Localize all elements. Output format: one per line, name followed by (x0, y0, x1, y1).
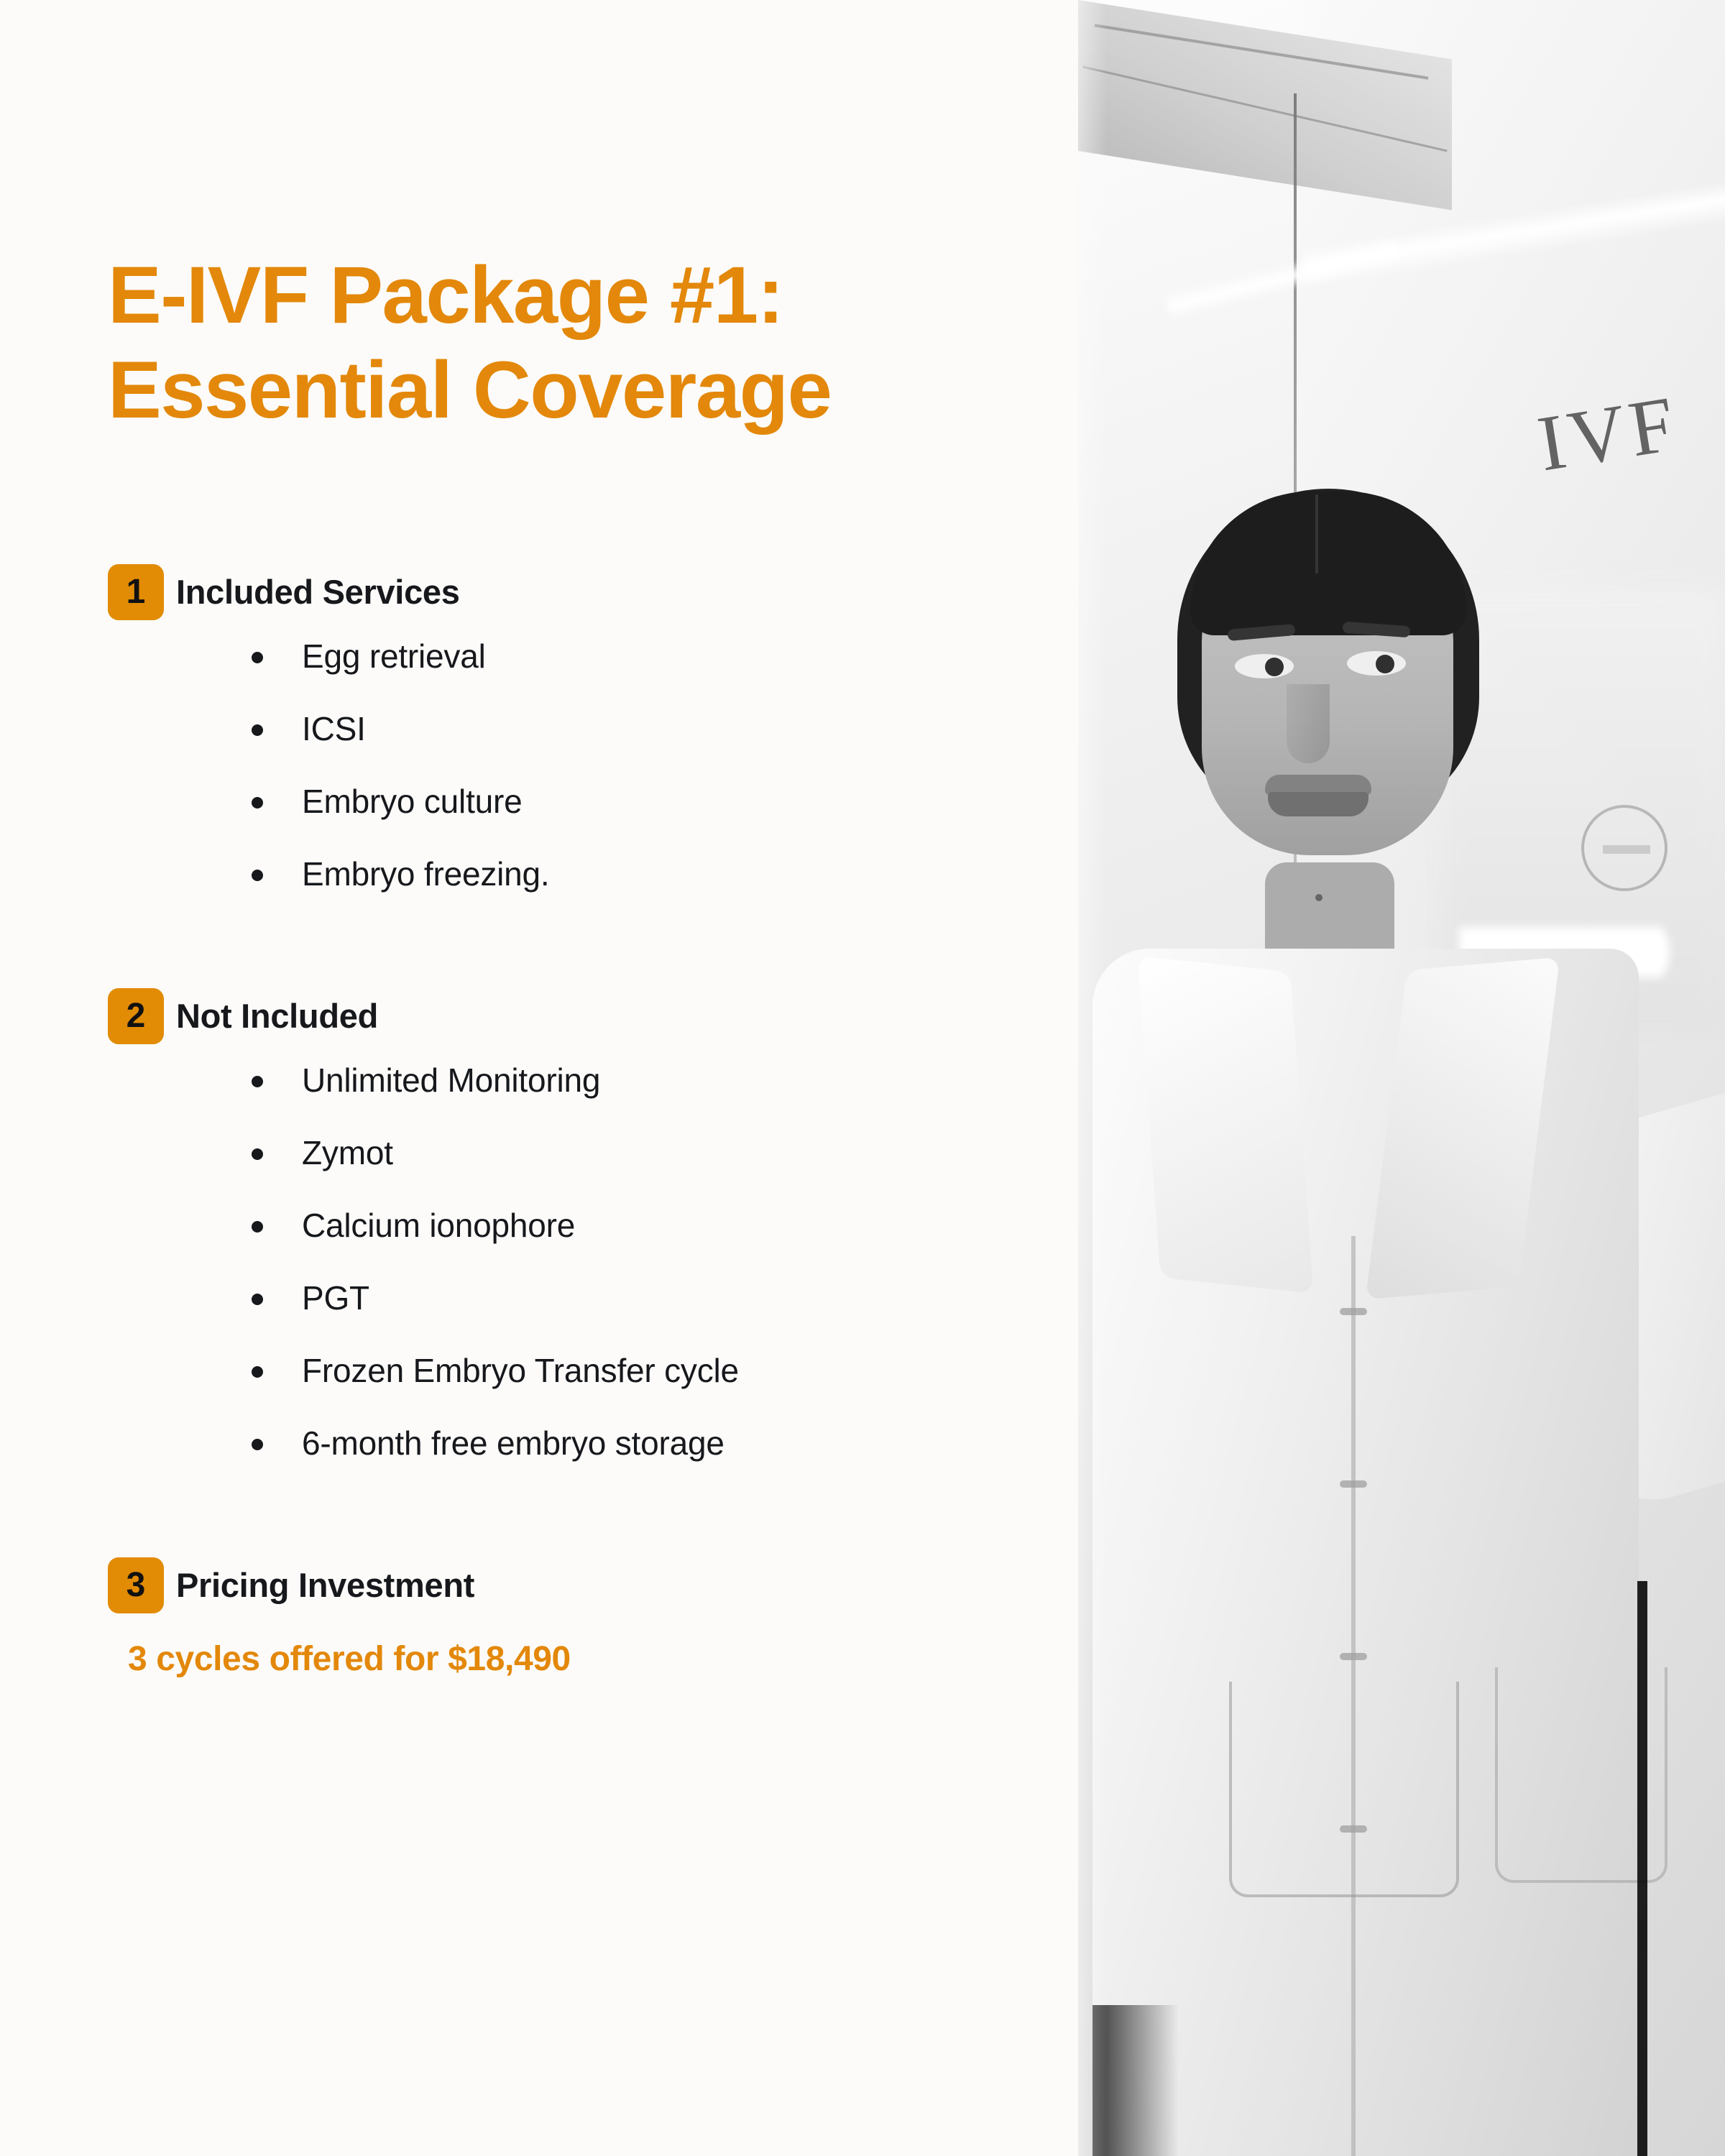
section-included-services: 1 Included Services Egg retrieval ICSI E… (108, 564, 1035, 895)
ivf-package-poster: E-IVF Package #1: Essential Coverage 1 I… (0, 0, 1725, 2156)
page-title-line-1: E-IVF Package #1: (108, 250, 783, 340)
list-item: Embryo culture (252, 781, 1035, 822)
list-item-label: PGT (302, 1279, 369, 1317)
list-item-label: Frozen Embryo Transfer cycle (302, 1352, 739, 1389)
list-item-label: 6-month free embryo storage (302, 1424, 724, 1462)
list-item-label: Embryo culture (302, 783, 523, 820)
section-number-badge: 3 (108, 1557, 164, 1613)
bullet-dot-icon (252, 797, 263, 808)
bullet-dot-icon (252, 1076, 263, 1087)
list-item: Unlimited Monitoring (252, 1060, 1035, 1101)
doctor-mole (1315, 894, 1322, 901)
list-item-label: Calcium ionophore (302, 1207, 575, 1244)
sections-list: 1 Included Services Egg retrieval ICSI E… (108, 564, 1035, 1679)
clinic-photo: IVF (1078, 0, 1725, 2156)
section-number-badge: 1 (108, 564, 164, 620)
section-pricing-investment: 3 Pricing Investment 3 cycles offered fo… (108, 1557, 1035, 1679)
doctor-nose (1287, 684, 1330, 763)
list-item: Zymot (252, 1133, 1035, 1174)
bullet-dot-icon (252, 724, 263, 736)
price-statement: 3 cycles offered for $18,490 (108, 1639, 1035, 1679)
doctor-hair-front (1190, 492, 1466, 635)
doctor-lip-lower (1268, 792, 1368, 816)
section-header: 1 Included Services (108, 564, 1035, 622)
section-number-badge: 2 (108, 988, 164, 1044)
list-item: ICSI (252, 709, 1035, 750)
section-header: 2 Not Included (108, 988, 1035, 1046)
photo-shadow-edge (1092, 2005, 1179, 2156)
photo-dark-seam (1637, 1581, 1647, 2156)
bullet-dot-icon (252, 1439, 263, 1450)
section-heading: Pricing Investment (176, 1557, 474, 1613)
bullet-dot-icon (252, 870, 263, 881)
doctor-coat-button (1340, 1308, 1367, 1315)
section-heading: Included Services (176, 564, 460, 620)
bullet-dot-icon (252, 652, 263, 663)
bullet-dot-icon (252, 1221, 263, 1233)
bullet-dot-icon (252, 1148, 263, 1160)
doctor-figure (1078, 460, 1725, 2156)
bullet-list: Egg retrieval ICSI Embryo culture Embryo… (108, 636, 1035, 895)
list-item: Calcium ionophore (252, 1205, 1035, 1246)
list-item: Embryo freezing. (252, 854, 1035, 895)
list-item-label: ICSI (302, 710, 366, 747)
list-item-label: Zymot (302, 1134, 393, 1171)
bullet-dot-icon (252, 1294, 263, 1305)
page-title: E-IVF Package #1: Essential Coverage (108, 248, 1006, 438)
list-item-label: Unlimited Monitoring (302, 1061, 600, 1099)
list-item-label: Egg retrieval (302, 637, 486, 675)
section-not-included: 2 Not Included Unlimited Monitoring Zymo… (108, 988, 1035, 1464)
list-item: Egg retrieval (252, 636, 1035, 677)
list-item: Frozen Embryo Transfer cycle (252, 1350, 1035, 1391)
doctor-coat-pocket (1229, 1682, 1459, 1897)
list-item: PGT (252, 1278, 1035, 1319)
doctor-eye-right (1347, 651, 1406, 676)
page-title-line-2: Essential Coverage (108, 345, 831, 435)
doctor-lapel-left (1138, 956, 1314, 1293)
list-item: 6-month free embryo storage (252, 1423, 1035, 1464)
doctor-eye-left (1235, 654, 1294, 678)
bullet-list: Unlimited Monitoring Zymot Calcium ionop… (108, 1060, 1035, 1464)
doctor-coat-button (1340, 1480, 1367, 1488)
section-header: 3 Pricing Investment (108, 1557, 1035, 1615)
doctor-hair-part (1315, 494, 1318, 573)
bullet-dot-icon (252, 1366, 263, 1378)
content-panel: E-IVF Package #1: Essential Coverage 1 I… (0, 0, 1078, 2156)
doctor-coat-button (1340, 1653, 1367, 1660)
section-heading: Not Included (176, 988, 378, 1044)
list-item-label: Embryo freezing. (302, 855, 550, 893)
